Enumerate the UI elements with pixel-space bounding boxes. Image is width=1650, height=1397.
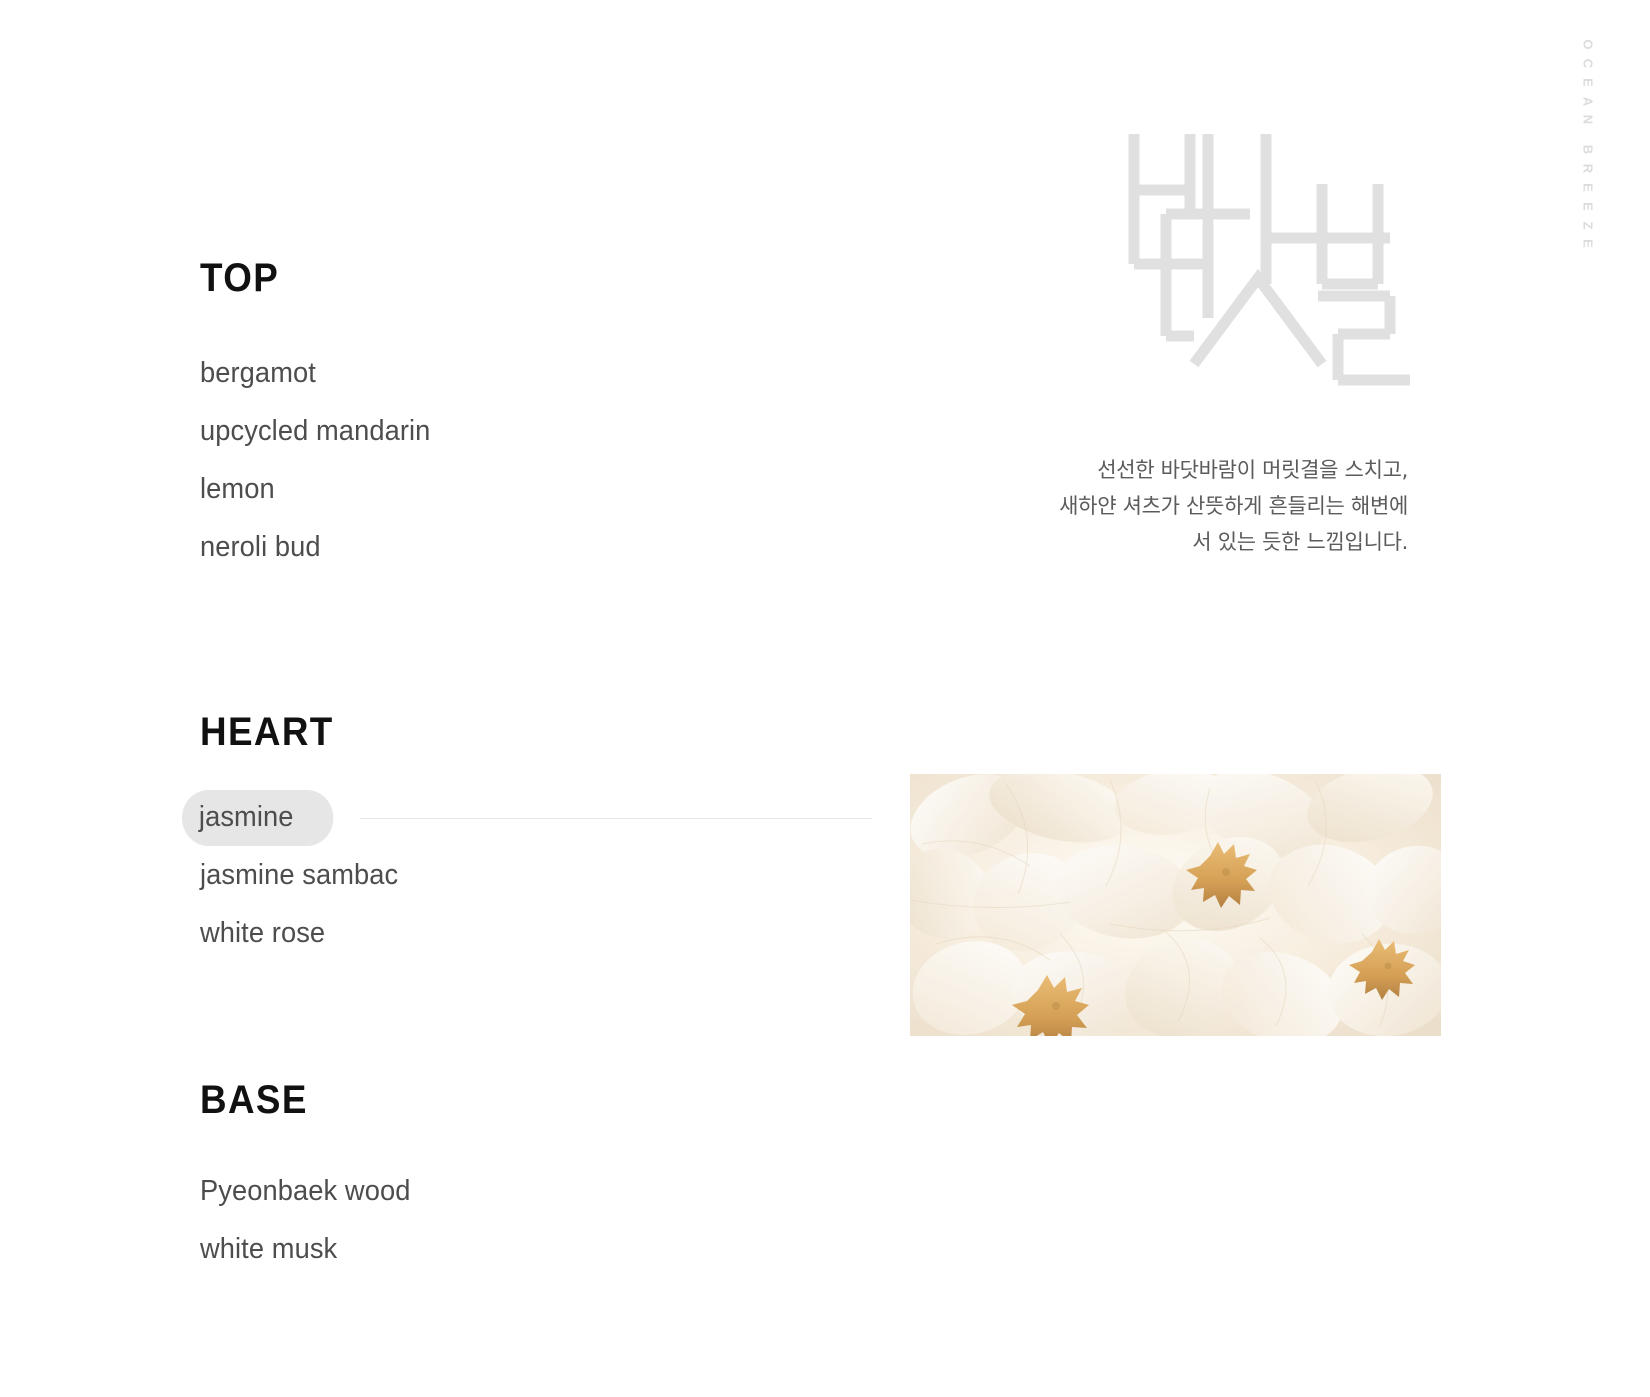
note-list-base: Pyeonbaek wood white musk (200, 1162, 424, 1278)
ocean-breeze-vertical-label: O C E A N B R E E Z E (1574, 36, 1600, 254)
note-title-top: TOP (200, 258, 426, 298)
connector-line (360, 818, 872, 819)
vertical-char: E (1578, 232, 1597, 258)
note-section-base: BASE Pyeonbaek wood white musk (200, 1080, 424, 1278)
brand-logo-icon (1090, 118, 1410, 408)
note-title-base: BASE (200, 1080, 406, 1120)
description-line-3: 서 있는 듯한 느낌입니다. (988, 524, 1408, 560)
note-title-heart: HEART (200, 712, 394, 752)
note-item: white musk (200, 1220, 410, 1278)
note-item: jasmine sambac (200, 846, 398, 904)
note-list-heart: jasmine jasmine sambac white rose (200, 788, 411, 962)
korean-description: 선선한 바닷바람이 머릿결을 스치고, 새하얀 셔츠가 산뜻하게 흔들리는 해변… (988, 452, 1408, 560)
note-list-top: bergamot upcycled mandarin lemon neroli … (200, 344, 445, 576)
description-line-2: 새하얀 셔츠가 산뜻하게 흔들리는 해변에 (988, 488, 1408, 524)
note-item: Pyeonbaek wood (200, 1162, 410, 1220)
vertical-char: N (1578, 108, 1597, 134)
note-item: neroli bud (200, 518, 430, 576)
fragrance-notes-page: O C E A N B R E E Z E (0, 0, 1650, 1397)
note-item-highlighted[interactable]: jasmine (200, 788, 343, 846)
note-item: white rose (200, 904, 398, 962)
note-item: lemon (200, 460, 430, 518)
description-line-1: 선선한 바닷바람이 머릿결을 스치고, (988, 452, 1408, 488)
note-item: bergamot (200, 344, 430, 402)
note-section-top: TOP bergamot upcycled mandarin lemon ner… (200, 258, 445, 576)
note-section-heart: HEART jasmine jasmine sambac white rose (200, 712, 411, 962)
note-item-pill-label: jasmine (182, 790, 333, 846)
note-item: upcycled mandarin (200, 402, 430, 460)
jasmine-photo (910, 774, 1441, 1036)
brand-area: O C E A N B R E E Z E (1010, 0, 1650, 600)
